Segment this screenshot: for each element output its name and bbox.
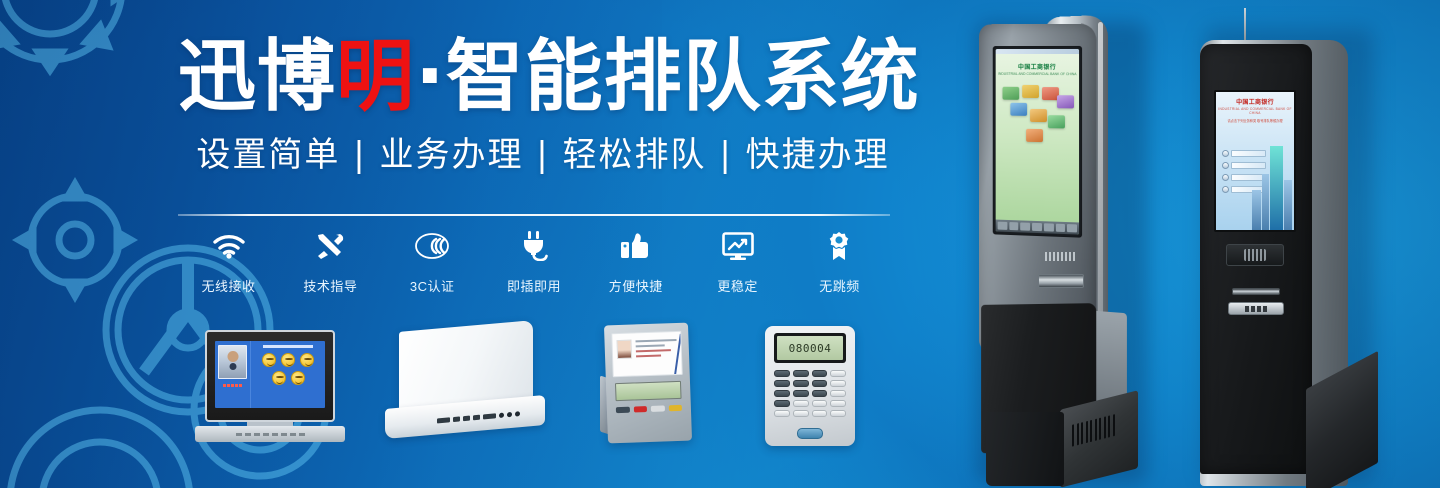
kiosk-vent-grille xyxy=(1072,414,1115,447)
kiosk-screen-building-graphic xyxy=(1252,142,1292,230)
feature-label: 技术指导 xyxy=(280,276,381,295)
monitor-rating-panel xyxy=(251,341,325,408)
id-card-photo xyxy=(616,340,632,360)
product-wireless-caller: 080004 xyxy=(765,326,855,446)
kiosk-screen[interactable]: 中国工商银行 INDUSTRIAL AND COMMERCIAL BANK OF… xyxy=(1216,92,1294,230)
feature-item-more-stable: 更稳定 xyxy=(687,228,788,295)
feature-item-wireless: 无线接收 xyxy=(178,228,279,295)
feature-item-3c-certification: 3C认证 xyxy=(382,228,483,295)
feature-list: 无线接收 技术指导 xyxy=(178,228,890,295)
monitor-staff-panel xyxy=(215,341,251,408)
caller-lcd-screen: 080004 xyxy=(777,336,843,360)
smiley-face-icon xyxy=(300,353,314,367)
smiley-face-icon xyxy=(281,353,295,367)
kiosk-screen[interactable]: 中国工商银行 INDUSTRIAL AND COMMERCIAL BANK OF… xyxy=(996,49,1079,235)
feature-item-tech-support: 技术指导 xyxy=(280,228,381,295)
feature-label: 无跳频 xyxy=(789,276,890,295)
product-queue-kiosk-green: 中国工商银行 INDUSTRIAL AND COMMERCIAL BANK OF… xyxy=(966,16,1156,488)
feature-item-no-frequency-hopping: 无跳频 xyxy=(789,228,890,295)
kiosk-screen-frame: 中国工商银行 INDUSTRIAL AND COMMERCIAL BANK OF… xyxy=(993,46,1082,238)
evaluator-buttons xyxy=(616,405,682,413)
kiosk-ticket-slot xyxy=(1038,274,1084,288)
product-control-host xyxy=(385,326,545,446)
evaluator-body xyxy=(604,323,692,444)
title-part-2: 智能排队系统 xyxy=(446,32,920,122)
feature-item-convenient: 方便快捷 xyxy=(585,228,686,295)
caller-lcd-housing: 080004 xyxy=(774,333,846,363)
smiley-face-icon xyxy=(291,371,305,385)
smiley-rating-faces xyxy=(253,353,323,385)
kiosk-base-front xyxy=(986,412,1064,486)
smiley-face-icon xyxy=(262,353,276,367)
promotional-banner: 迅博明·智能排队系统 设置简单 | 业务办理 | 轻松排队 | 快捷办理 无线接… xyxy=(0,0,1440,488)
title-part-1: 迅博 xyxy=(178,32,336,122)
smiley-face-icon xyxy=(272,371,286,385)
caller-lcd-value: 080004 xyxy=(789,342,832,355)
kiosk-brand-logo xyxy=(1045,252,1077,261)
card-reader-grille xyxy=(1244,249,1266,261)
kiosk-screen-topbar xyxy=(996,49,1079,54)
kiosk-ticket-slot xyxy=(1232,288,1280,295)
product-showcase: 080004 xyxy=(190,318,890,458)
product-queue-kiosk-blue: 中国工商银行 INDUSTRIAL AND COMMERCIAL BANK OF… xyxy=(1196,8,1382,488)
caller-keypad xyxy=(774,370,846,417)
kiosk-card-reader xyxy=(1226,244,1284,266)
kiosk-screen-bottombar xyxy=(996,220,1079,235)
title-separator-dot: · xyxy=(415,32,446,122)
feature-label: 即插即用 xyxy=(483,276,584,295)
kiosk-screen-note: 请点击下列业务种类 取号排队等候办理 xyxy=(1216,119,1294,124)
feature-item-plug-and-play: 即插即用 xyxy=(483,228,584,295)
evaluator-id-card xyxy=(611,331,682,377)
title-accent-char: 明 xyxy=(336,32,415,122)
rating-stars xyxy=(218,384,247,387)
feature-label: 更稳定 xyxy=(687,276,788,295)
feature-label: 无线接收 xyxy=(178,276,279,295)
id-card-text-lines xyxy=(636,339,678,360)
page-title: 迅博明·智能排队系统 xyxy=(178,38,908,116)
kiosk-printer-panel xyxy=(1228,302,1284,315)
rating-prompt xyxy=(263,345,313,348)
power-plug-icon xyxy=(483,228,584,264)
tools-icon xyxy=(280,228,381,264)
horizontal-divider xyxy=(178,214,890,216)
kiosk-service-tiles[interactable] xyxy=(1001,85,1074,152)
host-port-row xyxy=(437,411,520,423)
feature-label: 3C认证 xyxy=(382,276,483,295)
staff-photo xyxy=(218,345,247,379)
page-subtitle: 设置简单 | 业务办理 | 轻松排队 | 快捷办理 xyxy=(178,138,908,172)
thumbs-up-icon xyxy=(585,228,686,264)
product-desktop-evaluator xyxy=(590,318,700,448)
kiosk-screen-frame: 中国工商银行 INDUSTRIAL AND COMMERCIAL BANK OF… xyxy=(1214,90,1296,232)
kiosk-front-panel: 中国工商银行 INDUSTRIAL AND COMMERCIAL BANK OF… xyxy=(1200,44,1312,474)
feature-label: 方便快捷 xyxy=(585,276,686,295)
kiosk-bank-brand-sub: INDUSTRIAL AND COMMERCIAL BANK OF CHINA xyxy=(1216,107,1294,115)
kiosk-bank-brand: 中国工商银行 INDUSTRIAL AND COMMERCIAL BANK OF… xyxy=(996,62,1079,76)
monitor-screen xyxy=(215,341,325,408)
caller-body: 080004 xyxy=(765,326,855,446)
product-evaluation-monitor xyxy=(195,330,345,445)
evaluator-lcd xyxy=(615,381,682,401)
medal-ribbon-icon xyxy=(789,228,890,264)
monitor-bezel xyxy=(205,330,335,422)
monitor-chart-icon xyxy=(687,228,788,264)
wifi-icon xyxy=(178,228,279,264)
kiosk-bank-brand-sub: INDUSTRIAL AND COMMERCIAL BANK OF CHINA xyxy=(996,72,1079,76)
headline-block: 迅博明·智能排队系统 设置简单 | 业务办理 | 轻松排队 | 快捷办理 xyxy=(178,38,908,172)
monitor-stand-base xyxy=(195,426,345,442)
ccc-certification-icon xyxy=(382,228,483,264)
kiosk-bank-brand: 中国工商银行 INDUSTRIAL AND COMMERCIAL BANK OF… xyxy=(1216,97,1294,115)
caller-enter-button xyxy=(797,428,823,439)
